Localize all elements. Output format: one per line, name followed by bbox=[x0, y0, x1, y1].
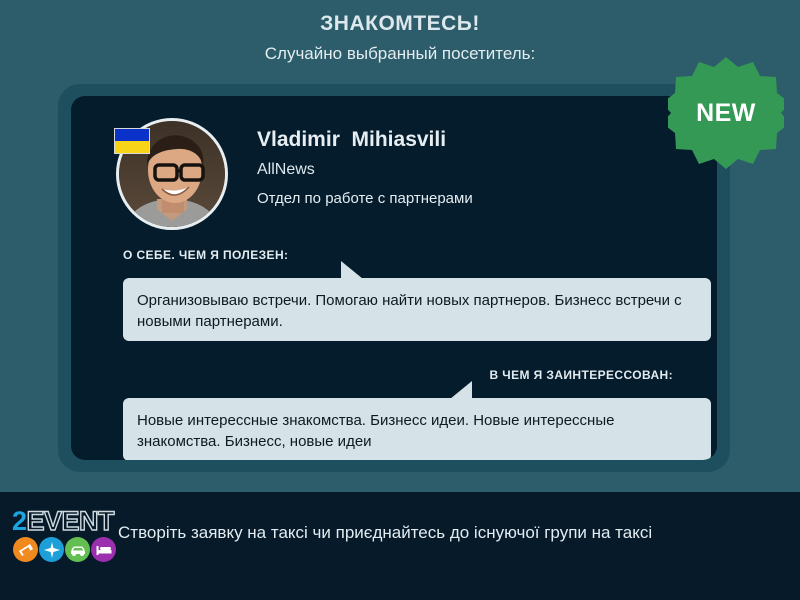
new-badge: NEW bbox=[668, 55, 784, 171]
speech-bubble-about: Организовываю встречи. Помогаю найти нов… bbox=[123, 278, 711, 341]
car-icon bbox=[65, 537, 90, 562]
profile-name: Vladimir Mihiasvili bbox=[257, 128, 687, 152]
profile-card-inner: Vladimir Mihiasvili AllNews Отдел по раб… bbox=[71, 96, 717, 460]
hotel-bed-icon bbox=[91, 537, 116, 562]
plane-icon bbox=[39, 537, 64, 562]
ticket-icon bbox=[13, 537, 38, 562]
flag-stripe-yellow bbox=[115, 141, 149, 153]
new-badge-label: NEW bbox=[668, 55, 784, 171]
speech-bubble-interest-text: Новые интерессные знакомства. Бизнесс ид… bbox=[137, 410, 697, 453]
avatar bbox=[116, 118, 228, 230]
footer-message: Створіть заявку на таксі чи приєднайтесь… bbox=[118, 523, 652, 543]
page-title: ЗНАКОМТЕСЬ! bbox=[0, 0, 800, 36]
speech-bubble-tail-about bbox=[341, 261, 363, 279]
logo-2event[interactable]: 2EVENT bbox=[12, 508, 112, 570]
profile-department: Отдел по работе с партнерами bbox=[257, 179, 687, 207]
speech-bubble-about-text: Организовываю встречи. Помогаю найти нов… bbox=[137, 290, 697, 333]
ukraine-flag-icon bbox=[114, 128, 150, 154]
footer-bar: 2EVENT bbox=[0, 492, 800, 600]
section-label-about: О СЕБЕ. ЧЕМ Я ПОЛЕЗЕН: bbox=[123, 248, 288, 262]
logo-wordmark: 2EVENT bbox=[12, 508, 114, 535]
flag-stripe-blue bbox=[115, 129, 149, 141]
logo-icon-row bbox=[13, 537, 116, 562]
profile-info: Vladimir Mihiasvili AllNews Отдел по раб… bbox=[257, 128, 687, 207]
profile-card: Vladimir Mihiasvili AllNews Отдел по раб… bbox=[58, 84, 730, 472]
logo-digit: 2 bbox=[12, 506, 27, 536]
speech-bubble-tail-interest bbox=[450, 381, 472, 399]
profile-company: AllNews bbox=[257, 152, 687, 179]
section-label-interest: В ЧЕМ Я ЗАИНТЕРЕССОВАН: bbox=[489, 368, 673, 382]
speech-bubble-interest: Новые интерессные знакомства. Бизнесс ид… bbox=[123, 398, 711, 460]
logo-word: EVENT bbox=[27, 506, 115, 536]
